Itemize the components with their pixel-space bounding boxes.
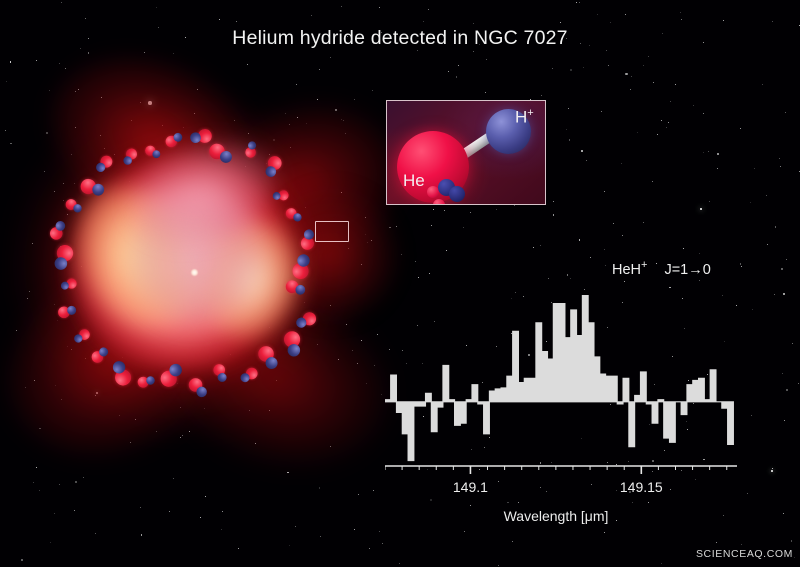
star-icon	[61, 2, 62, 3]
star-icon	[433, 209, 434, 210]
star-icon	[446, 250, 447, 251]
star-icon	[771, 470, 773, 472]
star-icon	[772, 468, 773, 469]
star-icon	[496, 209, 497, 210]
star-icon	[59, 63, 60, 64]
star-icon	[791, 540, 792, 541]
star-icon	[140, 507, 141, 508]
star-icon	[784, 420, 785, 421]
star-icon	[786, 389, 788, 391]
star-icon	[754, 168, 755, 169]
star-icon	[752, 309, 753, 310]
star-icon	[785, 112, 786, 113]
star-icon	[553, 214, 554, 215]
star-icon	[399, 563, 400, 564]
star-icon	[774, 294, 775, 295]
hydrogen-sphere-icon	[217, 373, 227, 383]
heh-molecule-marker	[137, 375, 156, 388]
heh-molecule-marker	[213, 364, 227, 385]
star-icon	[444, 210, 445, 211]
spectrum-legend: HeH+J=1→0	[612, 259, 711, 278]
star-icon	[661, 563, 662, 564]
star-icon	[456, 76, 457, 77]
star-icon	[238, 548, 239, 549]
star-icon	[792, 343, 793, 344]
star-icon	[144, 52, 145, 53]
star-icon	[570, 69, 572, 71]
star-icon	[568, 108, 569, 109]
star-icon	[287, 472, 288, 473]
star-icon	[783, 293, 784, 294]
star-icon	[601, 111, 602, 112]
star-icon	[762, 84, 763, 85]
star-icon	[200, 517, 201, 518]
star-icon	[583, 67, 584, 68]
star-icon	[717, 168, 718, 169]
star-icon	[750, 202, 751, 203]
star-icon	[786, 259, 787, 260]
star-icon	[581, 150, 583, 152]
star-icon	[54, 513, 55, 514]
star-icon	[700, 208, 702, 210]
star-icon	[540, 245, 541, 246]
star-icon	[173, 478, 174, 479]
star-icon	[579, 239, 580, 240]
hydrogen-sphere-icon	[146, 376, 155, 385]
star-icon	[33, 482, 34, 483]
star-icon	[668, 122, 669, 123]
spectrum-histogram	[385, 295, 737, 468]
star-icon	[703, 113, 704, 114]
heh-molecule-marker	[60, 279, 78, 290]
star-icon	[169, 511, 170, 512]
star-icon	[767, 244, 768, 245]
star-icon	[723, 20, 724, 21]
star-icon	[772, 21, 773, 22]
helium-atom-icon	[397, 131, 469, 203]
helium-label: He	[403, 171, 425, 191]
spectrum-figure: HeH+J=1→0 149.1149.15 Wavelength [μm]	[380, 255, 745, 535]
star-icon	[341, 6, 342, 7]
star-icon	[319, 487, 320, 488]
hydrogen-ion-label: H+	[515, 107, 534, 128]
star-icon	[354, 529, 355, 530]
star-icon	[85, 18, 86, 19]
star-icon	[83, 477, 84, 478]
axis-tick-label: 149.1	[453, 479, 488, 495]
star-icon	[553, 201, 554, 202]
star-icon	[141, 534, 142, 535]
star-icon	[625, 14, 626, 15]
hydrogen-sphere-icon	[295, 317, 307, 329]
star-icon	[693, 105, 694, 106]
star-icon	[652, 181, 653, 182]
star-icon	[552, 68, 553, 69]
star-icon	[631, 76, 632, 77]
star-icon	[597, 14, 598, 15]
molecule-inset-panel: He H+	[386, 100, 546, 205]
star-icon	[74, 510, 75, 511]
star-icon	[781, 268, 782, 269]
star-icon	[379, 7, 380, 8]
star-icon	[428, 9, 429, 10]
star-icon	[780, 166, 781, 167]
star-icon	[670, 101, 671, 102]
star-icon	[10, 61, 11, 62]
spectrum-trace	[385, 295, 733, 461]
star-icon	[661, 120, 662, 121]
star-icon	[423, 21, 424, 22]
star-icon	[330, 57, 331, 58]
star-icon	[604, 249, 605, 250]
star-icon	[221, 529, 222, 530]
star-icon	[766, 195, 767, 196]
star-icon	[643, 222, 644, 223]
star-icon	[514, 205, 515, 206]
star-icon	[311, 15, 312, 16]
star-icon	[533, 247, 534, 248]
heh-molecule-marker	[58, 306, 78, 319]
star-icon	[782, 373, 783, 374]
star-icon	[75, 481, 77, 483]
star-icon	[648, 56, 649, 57]
star-icon	[156, 7, 157, 8]
star-icon	[222, 511, 223, 512]
detection-region-box	[315, 221, 349, 242]
star-icon	[473, 51, 474, 52]
star-icon	[295, 526, 296, 527]
axis-tick-label: 149.15	[620, 479, 663, 495]
star-icon	[236, 21, 237, 22]
star-icon	[205, 496, 206, 497]
star-icon	[485, 92, 486, 93]
page-title: Helium hydride detected in NGC 7027	[0, 27, 800, 50]
star-icon	[36, 60, 37, 61]
star-icon	[473, 23, 474, 24]
star-icon	[716, 542, 717, 543]
spectrum-plot-area	[385, 295, 737, 468]
site-watermark: SCIENCEAQ.COM	[696, 548, 793, 560]
star-icon	[569, 139, 570, 140]
star-icon	[486, 59, 487, 60]
star-icon	[608, 65, 609, 66]
star-icon	[622, 235, 623, 236]
star-icon	[708, 151, 709, 152]
heh-molecule-marker	[188, 127, 213, 144]
star-icon	[717, 153, 719, 155]
star-icon	[498, 565, 499, 566]
star-icon	[657, 134, 658, 135]
spectrum-axis-title: Wavelength [μm]	[380, 508, 732, 524]
star-icon	[458, 65, 459, 66]
star-icon	[566, 129, 567, 130]
star-icon	[289, 545, 290, 546]
star-icon	[560, 22, 561, 23]
star-icon	[613, 223, 614, 224]
star-icon	[382, 543, 383, 544]
star-icon	[675, 84, 676, 85]
star-icon	[358, 494, 359, 495]
star-icon	[740, 128, 741, 129]
star-icon	[470, 212, 471, 213]
central-star-icon	[191, 269, 198, 276]
star-icon	[512, 541, 513, 542]
star-icon	[709, 201, 710, 202]
hydrogen-charge: +	[527, 107, 533, 119]
star-icon	[95, 533, 96, 534]
star-icon	[747, 493, 748, 494]
star-icon	[779, 158, 780, 159]
star-icon	[751, 415, 752, 416]
star-icon	[653, 82, 654, 83]
star-icon	[643, 65, 644, 66]
star-icon	[320, 536, 321, 537]
star-icon	[703, 152, 704, 153]
spectrum-x-axis	[385, 464, 737, 476]
star-icon	[794, 557, 795, 558]
star-icon	[463, 227, 464, 228]
star-icon	[586, 160, 587, 161]
transition-label: J=1→0	[664, 262, 710, 278]
hydrogen-symbol: H	[515, 108, 527, 127]
star-icon	[50, 542, 51, 543]
axis-svg	[385, 465, 737, 477]
star-icon	[448, 71, 449, 72]
star-icon	[681, 19, 682, 20]
star-icon	[699, 253, 700, 254]
star-icon	[431, 225, 432, 226]
star-icon	[369, 548, 370, 549]
star-icon	[630, 89, 631, 90]
star-icon	[610, 22, 611, 23]
hydrogen-sphere-icon	[67, 306, 76, 315]
star-icon	[173, 53, 174, 54]
star-icon	[21, 559, 23, 561]
star-icon	[683, 248, 684, 249]
star-icon	[576, 2, 577, 3]
star-icon	[219, 19, 220, 20]
star-icon	[247, 64, 248, 65]
star-icon	[59, 484, 60, 485]
nucleus-proton-icon	[433, 199, 445, 205]
star-icon	[5, 130, 6, 131]
star-icon	[783, 513, 784, 514]
star-icon	[604, 191, 605, 192]
star-icon	[88, 52, 89, 53]
star-icon	[621, 163, 622, 164]
species-label: HeH	[612, 262, 641, 278]
star-icon	[666, 127, 667, 128]
species-charge: +	[641, 259, 647, 271]
star-icon	[579, 2, 580, 3]
star-icon	[798, 383, 799, 384]
nebula-image	[8, 70, 378, 460]
star-icon	[637, 132, 638, 133]
nucleus-neutron-icon	[449, 186, 465, 202]
star-icon	[396, 226, 397, 227]
star-icon	[36, 467, 37, 468]
infographic-canvas: Helium hydride detected in NGC 7027 He H…	[0, 0, 800, 567]
star-icon	[541, 95, 542, 96]
star-icon	[373, 490, 374, 491]
spectrum-tick-labels: 149.1149.15	[380, 479, 745, 497]
heh-molecule-marker	[112, 357, 132, 386]
star-icon	[39, 490, 40, 491]
heh-molecule-marker	[282, 330, 303, 359]
star-icon	[680, 12, 681, 13]
hydrogen-sphere-icon	[61, 282, 69, 290]
hydrogen-sphere-icon	[287, 343, 301, 357]
star-icon	[741, 544, 742, 545]
star-icon	[775, 226, 776, 227]
star-icon	[625, 73, 627, 75]
star-icon	[417, 50, 418, 51]
